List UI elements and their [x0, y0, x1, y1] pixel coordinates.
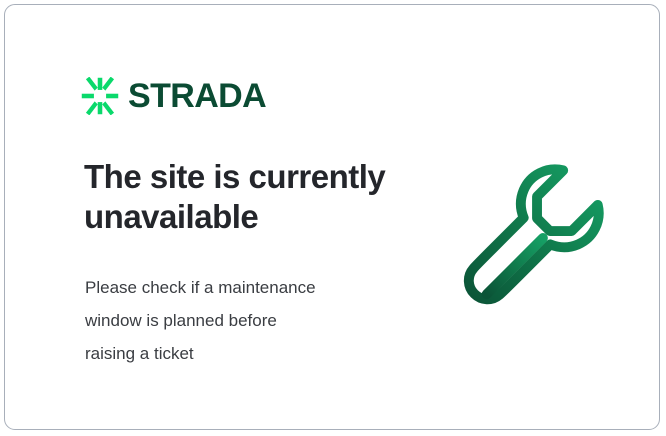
description-line: raising a ticket — [85, 337, 405, 370]
error-page: STRADA The site is currently unavailable… — [0, 0, 666, 436]
wrench-icon — [460, 157, 618, 315]
strada-asterisk-icon — [81, 77, 119, 115]
page-description: Please check if a maintenance window is … — [85, 271, 405, 370]
message-card: STRADA The site is currently unavailable… — [4, 4, 660, 430]
brand-wordmark: STRADA — [128, 79, 266, 113]
description-line: Please check if a maintenance — [85, 271, 405, 304]
page-title: The site is currently unavailable — [84, 157, 424, 237]
brand-logo: STRADA — [81, 75, 266, 117]
description-line: window is planned before — [85, 304, 405, 337]
